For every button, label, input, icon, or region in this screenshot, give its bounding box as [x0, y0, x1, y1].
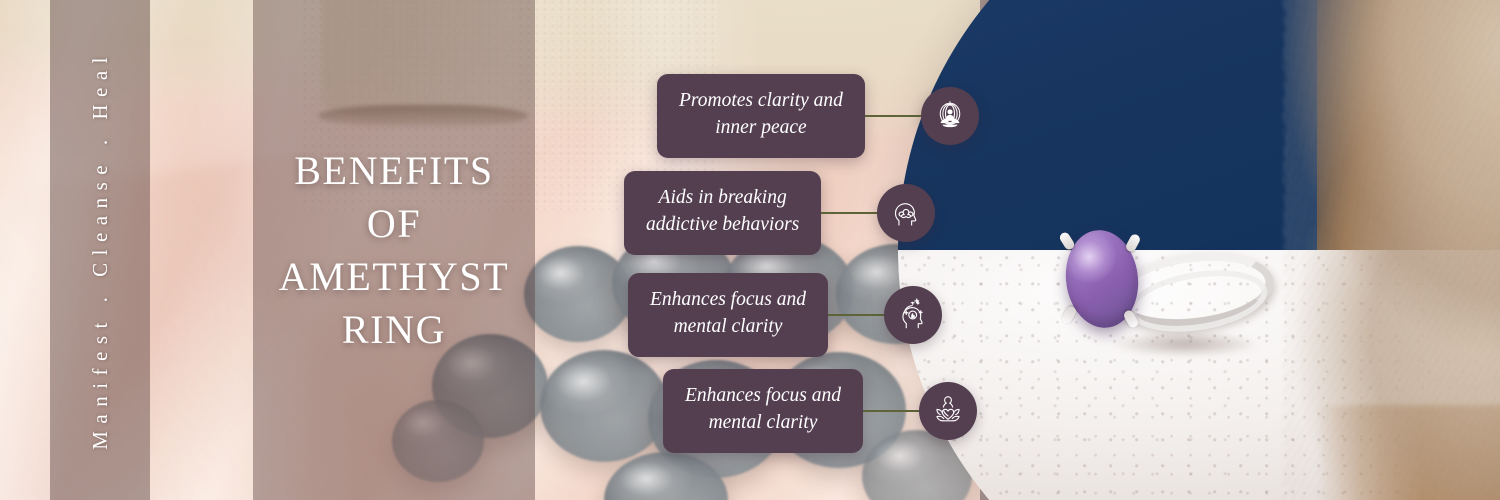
benefit-card-2: Aids in breaking addictive behaviors — [624, 171, 821, 255]
benefit-connector-2 — [821, 212, 877, 214]
head-thumbs-up-mental-health-icon — [884, 286, 942, 344]
banner-root: Manifest . Cleanse . Heal BENEFITS OF AM… — [0, 0, 1500, 500]
benefit-connector-1 — [865, 115, 921, 117]
benefit-item-4[interactable]: Enhances focus and mental clarity — [663, 369, 977, 453]
benefit-connector-4 — [863, 410, 919, 412]
meditation-lotus-pose-icon — [921, 87, 979, 145]
benefit-connector-3 — [828, 314, 884, 316]
benefit-card-3: Enhances focus and mental clarity — [628, 273, 828, 357]
benefit-item-1[interactable]: Promotes clarity and inner peace — [657, 74, 979, 158]
benefit-item-3[interactable]: Enhances focus and mental clarity — [628, 273, 942, 357]
benefits-list: Promotes clarity and inner peace Aids in — [0, 0, 1500, 500]
benefit-card-1: Promotes clarity and inner peace — [657, 74, 865, 158]
benefit-item-2[interactable]: Aids in breaking addictive behaviors — [624, 171, 935, 255]
head-lotus-flower-icon — [877, 184, 935, 242]
person-heart-hands-leaves-icon — [919, 382, 977, 440]
benefit-card-4: Enhances focus and mental clarity — [663, 369, 863, 453]
